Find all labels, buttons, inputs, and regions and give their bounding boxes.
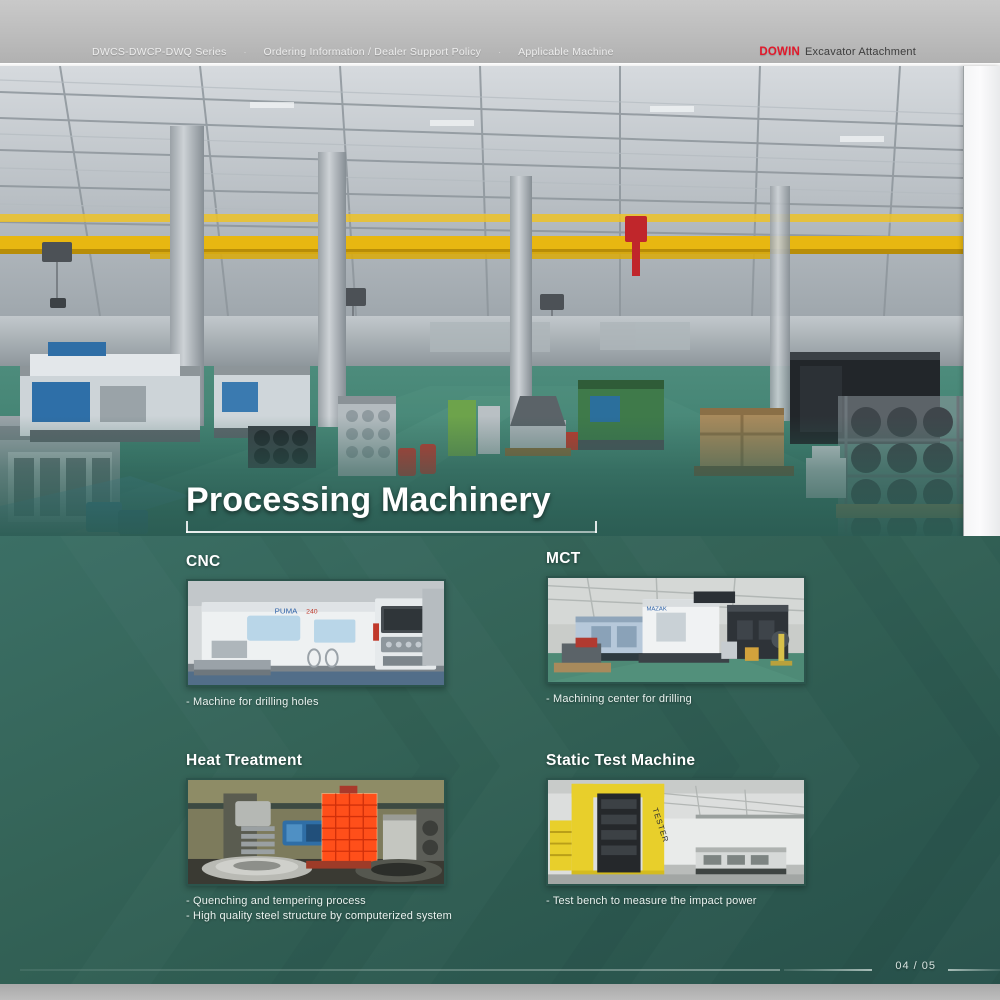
- card-static-test-machine-label: Static Test Machine: [546, 752, 806, 770]
- card-heat-treatment: Heat Treatment: [186, 752, 452, 924]
- card-heat-treatment-caption: - Quenching and tempering process - High…: [186, 894, 452, 924]
- page-number: 04 / 05: [895, 960, 936, 972]
- card-cnc-caption: - Machine for drilling holes: [186, 695, 446, 710]
- hero-factory-photo: [0, 66, 963, 536]
- card-mct-photo[interactable]: MAZAK: [546, 576, 806, 684]
- page-title-text: Processing Machinery: [186, 483, 606, 517]
- nav-separator-icon: ·: [227, 47, 264, 57]
- page-title: Processing Machinery: [186, 483, 606, 517]
- title-underline-rule: [186, 521, 597, 536]
- card-cnc: CNC PUMA 240: [186, 553, 446, 710]
- top-navigation-bar: DWCS-DWCP-DWQ Series · Ordering Informat…: [0, 0, 1000, 65]
- card-mct-label: MCT: [546, 550, 806, 568]
- content-section: CNC PUMA 240: [0, 536, 1000, 1000]
- nav-item-ordering-information[interactable]: Ordering Information / Dealer Support Po…: [264, 46, 482, 58]
- nav-separator-icon-2: ·: [481, 47, 518, 57]
- card-mct: MCT: [546, 550, 806, 707]
- brochure-page: DWCS-DWCP-DWQ Series · Ordering Informat…: [0, 0, 1000, 1000]
- card-static-test-machine-photo[interactable]: TESTER: [546, 778, 806, 886]
- nav-item-applicable-machine[interactable]: Applicable Machine: [518, 46, 614, 58]
- svg-text:MAZAK: MAZAK: [646, 607, 666, 613]
- title-rule-right-tick: [595, 521, 597, 533]
- footer-rule-long: [20, 969, 780, 971]
- nav-item-series[interactable]: DWCS-DWCP-DWQ Series: [92, 46, 227, 58]
- brand-logo: DOWIN Excavator Attachment: [759, 46, 916, 58]
- card-cnc-photo[interactable]: PUMA 240: [186, 579, 446, 687]
- bottom-page-strip: [0, 984, 1000, 1000]
- card-heat-treatment-photo[interactable]: [186, 778, 446, 886]
- card-static-test-machine-caption: - Test bench to measure the impact power: [546, 894, 806, 909]
- card-mct-caption: - Machining center for drilling: [546, 692, 806, 707]
- title-rule-bar: [186, 531, 597, 533]
- card-static-test-machine: Static Test Machine: [546, 752, 806, 909]
- chevron-background-pattern: [0, 536, 1000, 1000]
- svg-text:PUMA: PUMA: [275, 607, 299, 616]
- svg-text:240: 240: [306, 609, 318, 616]
- footer-rule-left: [784, 969, 872, 971]
- page-edge-shadow: [963, 66, 1000, 546]
- brand-tagline-text: Excavator Attachment: [805, 46, 916, 58]
- brand-mark-text: DOWIN: [759, 46, 800, 58]
- top-nav-items: DWCS-DWCP-DWQ Series · Ordering Informat…: [92, 46, 614, 58]
- card-cnc-label: CNC: [186, 553, 446, 571]
- card-heat-treatment-label: Heat Treatment: [186, 752, 452, 770]
- footer-rule-right: [948, 969, 1000, 971]
- page-footer: 04 / 05: [0, 960, 1000, 978]
